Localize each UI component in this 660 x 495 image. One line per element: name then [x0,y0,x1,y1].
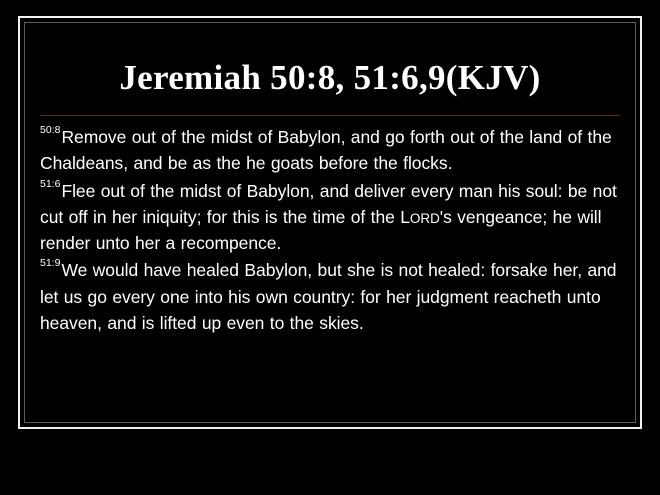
divine-name-initial: L [400,207,410,227]
verse-paragraph-51-9: 51:9We would have healed Babylon, but sh… [40,256,620,336]
verse-reference: 51:9 [40,257,61,269]
slide: Jeremiah 50:8, 51:6,9(KJV) 50:8Remove ou… [0,0,660,495]
divine-name-smallcaps: ORD [410,211,440,226]
title-divider [40,115,620,116]
page-title: Jeremiah 50:8, 51:6,9(KJV) [38,26,622,95]
verse-text: Remove out of the midst of Babylon, and … [40,127,612,173]
verse-reference: 50:8 [40,124,61,136]
verse-paragraph-51-6: 51:6Flee out of the midst of Babylon, an… [40,177,620,257]
verse-reference: 51:6 [40,178,61,190]
verse-paragraph-50-8: 50:8Remove out of the midst of Babylon, … [40,123,620,177]
verse-list: 50:8Remove out of the midst of Babylon, … [38,123,622,336]
verse-text: We would have healed Babylon, but she is… [40,260,617,333]
slide-content: Jeremiah 50:8, 51:6,9(KJV) 50:8Remove ou… [28,26,632,419]
